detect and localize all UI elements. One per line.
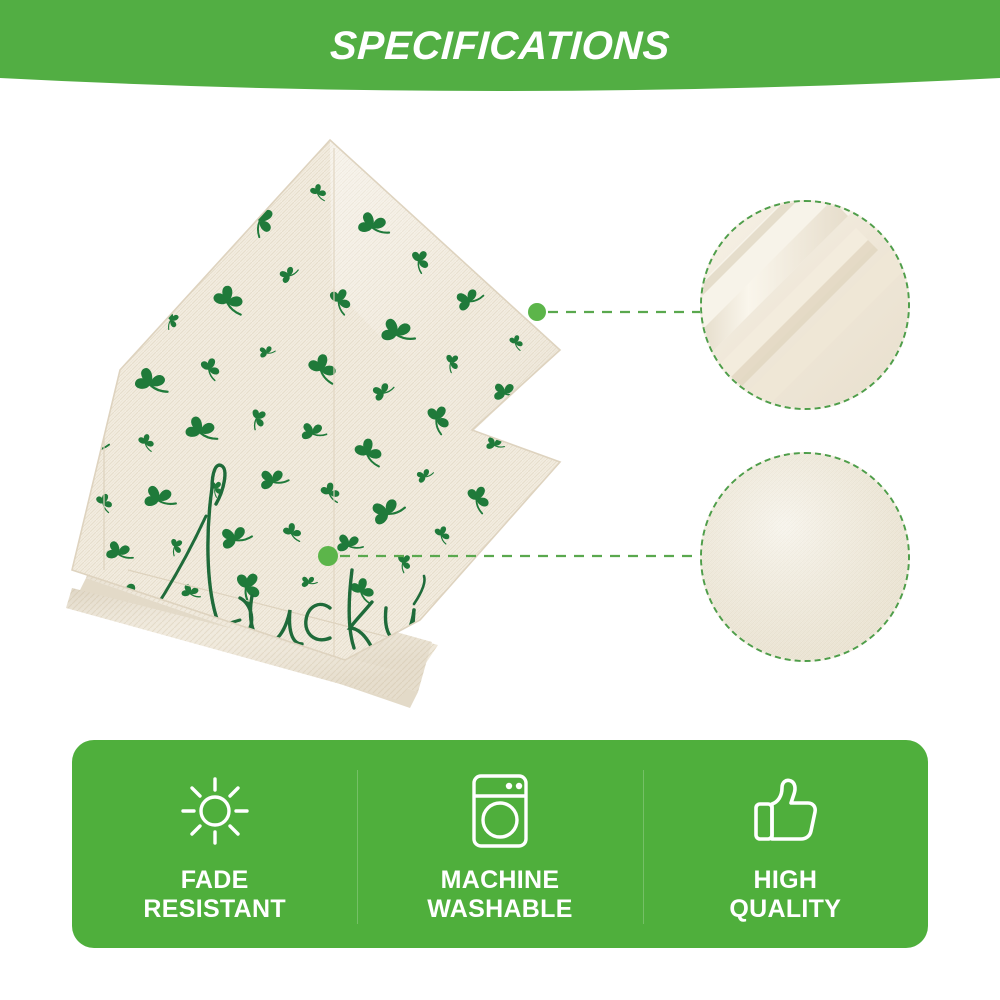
feature-line-1: FADE bbox=[143, 866, 286, 896]
washing-machine-icon bbox=[468, 770, 532, 852]
feature-card-fade-resistant[interactable]: FADE RESISTANT bbox=[72, 740, 357, 948]
product-image bbox=[0, 100, 1000, 720]
sun-icon bbox=[179, 770, 251, 852]
feature-line-1: MACHINE bbox=[427, 866, 572, 896]
feature-bar: FADE RESISTANT MACHINE WASHABLE bbox=[72, 740, 928, 948]
feature-label-fade-resistant: FADE RESISTANT bbox=[143, 866, 286, 925]
feature-card-machine-washable[interactable]: MACHINE WASHABLE bbox=[357, 740, 642, 948]
weave-detail-image bbox=[702, 454, 908, 660]
detail-circle-weave bbox=[700, 452, 910, 662]
feature-line-2: QUALITY bbox=[729, 895, 841, 925]
callout-leader-top bbox=[528, 303, 700, 321]
detail-circle-hem bbox=[700, 200, 910, 410]
page-title: SPECIFICATIONS bbox=[0, 24, 1000, 69]
feature-label-machine-washable: MACHINE WASHABLE bbox=[427, 866, 572, 925]
feature-line-2: WASHABLE bbox=[427, 895, 572, 925]
feature-line-1: HIGH bbox=[729, 866, 841, 896]
feature-card-high-quality[interactable]: HIGH QUALITY bbox=[643, 740, 928, 948]
hem-detail-image bbox=[702, 202, 908, 408]
thumbs-up-icon bbox=[748, 770, 822, 852]
feature-line-2: RESISTANT bbox=[143, 895, 286, 925]
header-banner: SPECIFICATIONS bbox=[0, 0, 1000, 100]
feature-label-high-quality: HIGH QUALITY bbox=[729, 866, 841, 925]
